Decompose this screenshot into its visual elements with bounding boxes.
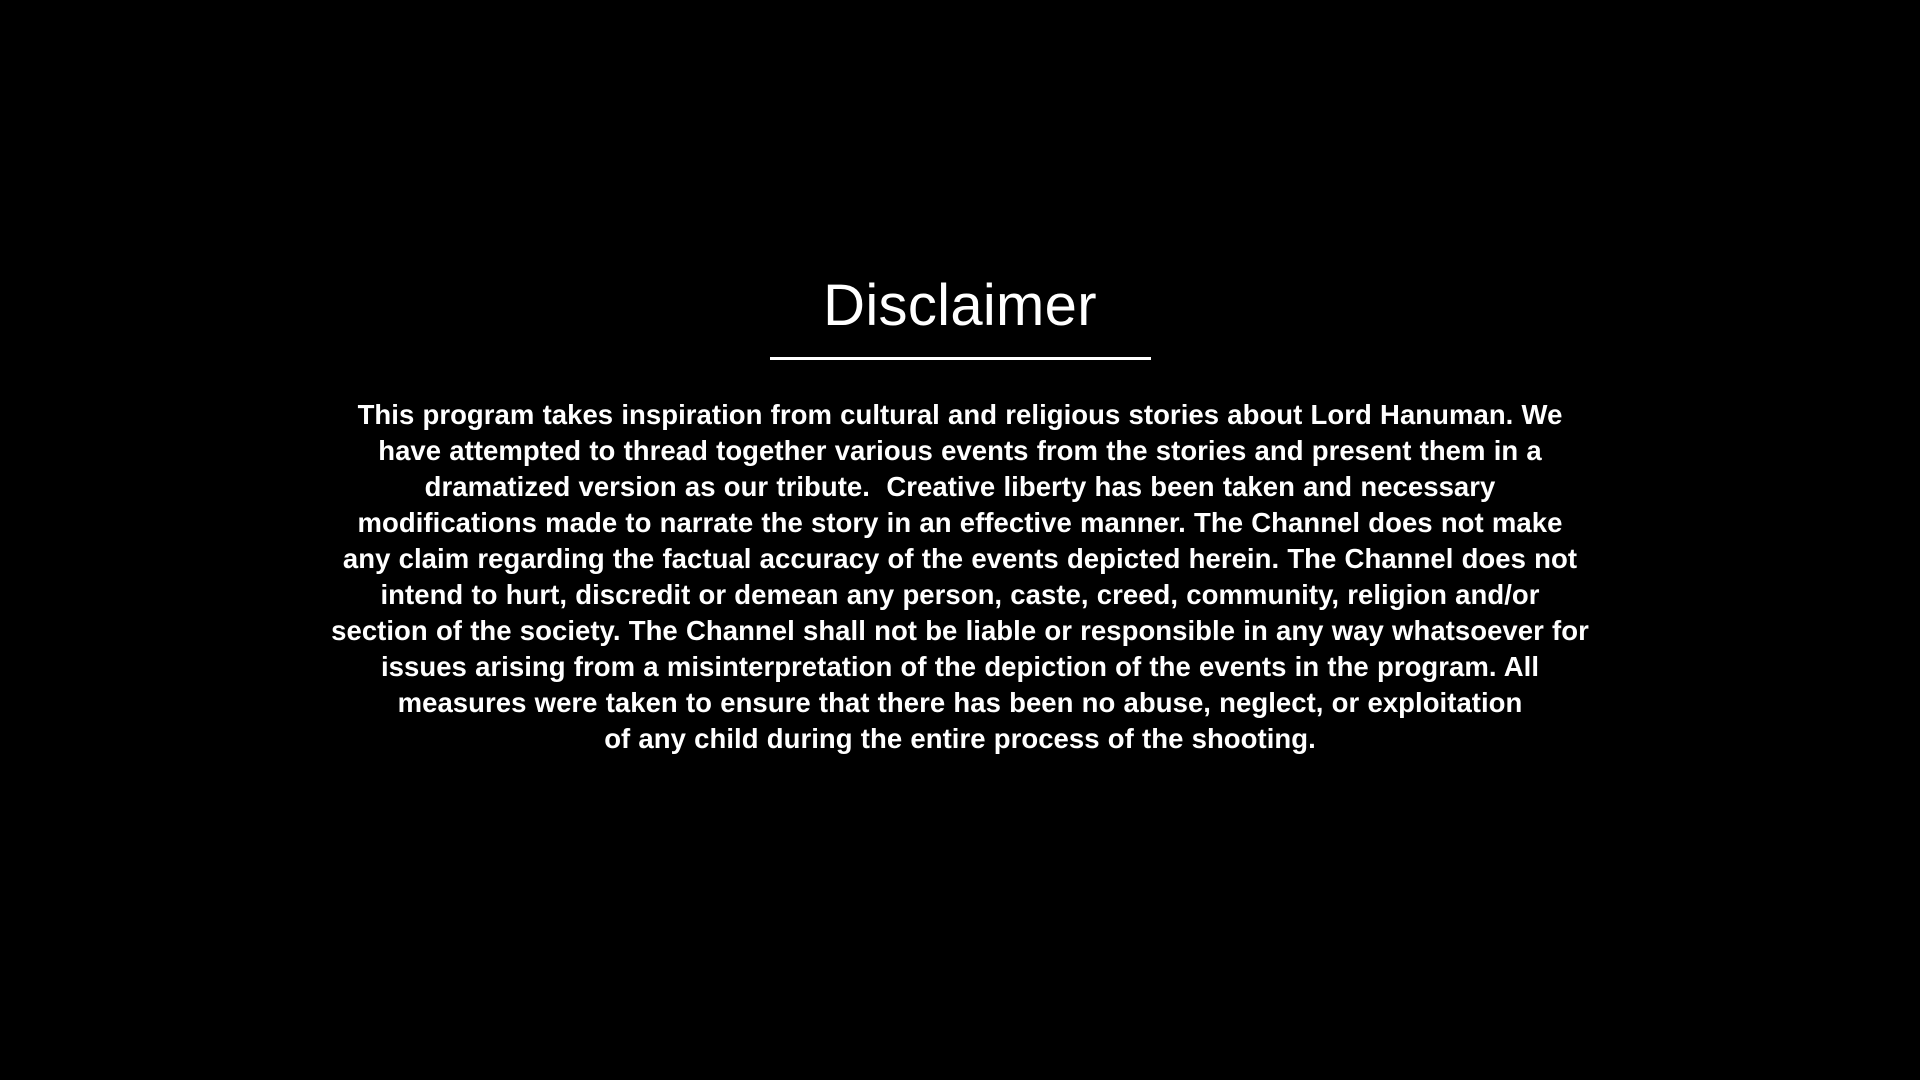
body-line: section of the society. The Channel shal… — [188, 613, 1733, 649]
body-line: This program takes inspiration from cult… — [188, 397, 1733, 433]
body-line: modifications made to narrate the story … — [188, 505, 1733, 541]
disclaimer-card: Disclaimer This program takes inspiratio… — [0, 0, 1920, 1080]
title-block: Disclaimer — [0, 277, 1920, 360]
body-line: issues arising from a misinterpretation … — [188, 649, 1733, 685]
page-title: Disclaimer — [823, 277, 1097, 335]
screen: Disclaimer This program takes inspiratio… — [0, 0, 1920, 1080]
body-line: dramatized version as our tribute. Creat… — [188, 469, 1733, 505]
body-line: of any child during the entire process o… — [188, 721, 1733, 757]
body-line: measures were taken to ensure that there… — [188, 685, 1733, 721]
disclaimer-body-text: This program takes inspiration from cult… — [188, 397, 1733, 757]
title-underline-rule — [770, 357, 1151, 360]
body-line: any claim regarding the factual accuracy… — [188, 541, 1733, 577]
body-line: intend to hurt, discredit or demean any … — [188, 577, 1733, 613]
body-line: have attempted to thread together variou… — [188, 433, 1733, 469]
